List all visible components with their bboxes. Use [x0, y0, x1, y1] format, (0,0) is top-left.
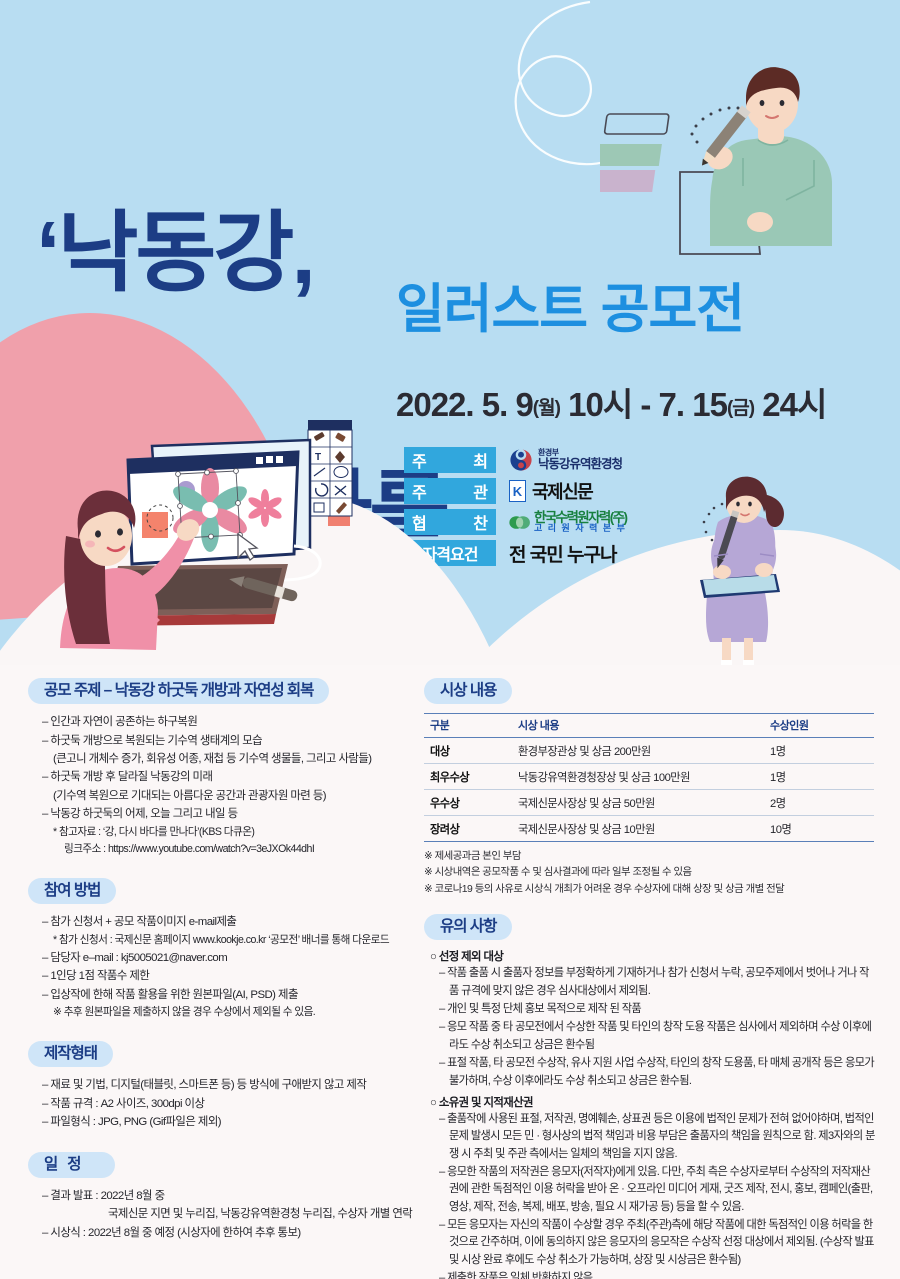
note-item: ※ 코로나19 등의 사유로 시상식 개최가 어려운 경우 수상자에 대해 상장…: [424, 882, 876, 898]
table-row: 우수상 국제신문사장상 및 상금 50만원 2명: [424, 790, 874, 816]
awards-table: 구분 시상 내용 수상인원 대상 환경부장관상 및 상금 200만원 1명 최우…: [424, 713, 874, 842]
caution-heading: ○ 선정 제외 대상: [430, 948, 876, 964]
organizer-tag-sponsor-char2: 찬: [473, 510, 488, 534]
section-schedule: 일정 – 결과 발표 : 2022년 8월 중 국제신문 지면 및 누리집, 낙…: [28, 1152, 424, 1242]
section-format: 제작형태 – 재료 및 기법, 디지털(태블릿, 스마트폰 등) 등 방식에 구…: [28, 1041, 424, 1131]
cell-prize: 환경부장관상 및 상금 200만원: [512, 738, 764, 764]
kookje-newspaper-name: 국제신문: [532, 478, 592, 504]
organizer-row-sponsor: 협 찬 한국수력원자력(주) 고 리 원 자 력 본 부: [404, 508, 734, 536]
left-column: 공모 주제 – 낙동강 하굿둑 개방과 자연성 회복 – 인간과 자연이 공존하…: [28, 678, 424, 1255]
table-row: 대상 환경부장관상 및 상금 200만원 1명: [424, 738, 874, 764]
cell-prize: 낙동강유역환경청장상 및 상금 100만원: [512, 764, 764, 790]
table-row: 최우수상 낙동강유역환경청장상 및 상금 100만원 1명: [424, 764, 874, 790]
schedule-title-char2: 정: [67, 1156, 90, 1173]
period-end-time: 24시: [762, 386, 826, 423]
cell-category: 장려상: [424, 816, 512, 842]
list-item: (큰고니 개체수 증가, 회유성 어종, 재첩 등 기수역 생물들, 그리고 사…: [42, 750, 424, 768]
section-participation: 참여 방법 – 참가 신청서 + 공모 작품이미지 e-mail제출 * 참가 …: [28, 878, 424, 1021]
section-title-schedule: 일정: [28, 1152, 115, 1178]
content-area: 공모 주제 – 낙동강 하굿둑 개방과 자연성 회복 – 인간과 자연이 공존하…: [0, 660, 900, 1279]
organizer-value-eligibility: 전 국민 누구나: [509, 540, 616, 567]
list-item: – 입상작에 한해 작품 활용을 위한 원본파일(AI, PSD) 제출: [42, 986, 424, 1004]
list-item: – 참가 신청서 + 공모 작품이미지 e-mail제출: [42, 913, 424, 931]
list-item: – 결과 발표 : 2022년 8월 중: [42, 1187, 424, 1205]
cell-prize: 국제신문사장상 및 상금 50만원: [512, 790, 764, 816]
organizer-value-organizer: K 국제신문: [509, 478, 592, 504]
tool-palette: T: [308, 420, 352, 516]
list-item: – 하굿둑 개방 후 달라질 낙동강의 미래: [42, 768, 424, 786]
caution-item: – 표절 작품, 타 공모전 수상작, 유사 지원 사업 수상작, 타인의 창작…: [430, 1055, 876, 1090]
list-item: * 참고자료 : ‘강, 다시 바다를 만나다’(KBS 다큐온): [42, 824, 424, 841]
section-title-format: 제작형태: [28, 1041, 113, 1067]
period-start-time: 10시: [568, 386, 632, 423]
section-title-participation: 참여 방법: [28, 878, 116, 904]
period-end-date: 7. 15: [659, 386, 727, 423]
caution-item: – 작품 출품 시 출품자 정보를 부정확하게 기재하거나 참가 신청서 누락,…: [430, 965, 876, 1000]
note-item: ※ 시상내역은 공모작품 수 및 심사결과에 따라 일부 조정될 수 있음: [424, 865, 876, 881]
cell-category: 최우수상: [424, 764, 512, 790]
caution-group-exclusion: ○ 선정 제외 대상 – 작품 출품 시 출품자 정보를 부정확하게 기재하거나…: [424, 948, 876, 1090]
caution-heading: ○ 소유권 및 지적재산권: [430, 1094, 876, 1110]
period-end-day: (금): [727, 398, 754, 419]
organizer-row-organizer: 주 관 K 국제신문: [404, 477, 734, 505]
column-header-prize: 시상 내용: [512, 714, 764, 738]
column-header-category: 구분: [424, 714, 512, 738]
period-dash: -: [640, 386, 650, 423]
organizer-tag-organizer-char1: 주: [412, 479, 427, 503]
period-start-date: 2022. 5. 9: [396, 386, 533, 423]
list-item: – 인간과 자연이 공존하는 하구복원: [42, 713, 424, 731]
cell-category: 우수상: [424, 790, 512, 816]
caution-item: – 응모한 작품의 저작권은 응모자(저작자)에게 있음. 다만, 주최 측은 …: [430, 1164, 876, 1216]
section-title-cautions: 유의 사항: [424, 914, 512, 940]
organizer-tag-organizer-char2: 관: [473, 479, 488, 503]
organizer-value-sponsor: 한국수력원자력(주) 고 리 원 자 력 본 부: [509, 511, 626, 534]
cell-prize: 국제신문사장상 및 상금 10만원: [512, 816, 764, 842]
table-row: 장려상 국제신문사장상 및 상금 10만원 10명: [424, 816, 874, 842]
headline-line-1: ‘낙동강,: [36, 210, 447, 296]
cell-category: 대상: [424, 738, 512, 764]
section-cautions: 유의 사항 ○ 선정 제외 대상 – 작품 출품 시 출품자 정보를 부정확하게…: [424, 914, 876, 1279]
section-awards: 시상 내용 구분 시상 내용 수상인원 대상 환경부장관상 및 상금 200만원: [424, 678, 876, 898]
ministry-logo-text: 환경부 낙동강유역환경청: [538, 449, 622, 471]
section-body-topic: – 인간과 자연이 공존하는 하구복원 – 하굿둑 개방으로 복원되는 기수역 …: [28, 713, 424, 858]
eligibility-text: 전 국민 누구나: [509, 540, 616, 567]
list-item: – 하굿둑 개방으로 복원되는 기수역 생태계의 모습: [42, 732, 424, 750]
caution-group-ip: ○ 소유권 및 지적재산권 – 출품작에 사용된 표절, 저작권, 명예훼손, …: [424, 1094, 876, 1279]
column-header-count: 수상인원: [764, 714, 874, 738]
organizer-tag-host: 주 최: [404, 447, 496, 473]
reference-link[interactable]: 링크주소 : https://www.youtube.com/watch?v=3…: [42, 841, 424, 858]
caution-item: – 제출한 작품은 일체 반환하지 않음.: [430, 1270, 876, 1279]
list-item: – 낙동강 하굿둑의 어제, 오늘 그리고 내일 등: [42, 805, 424, 823]
section-title-topic: 공모 주제 – 낙동강 하굿둑 개방과 자연성 회복: [28, 678, 329, 704]
list-item: (기수역 복원으로 기대되는 아름다운 공간과 관광자원 마련 등): [42, 787, 424, 805]
organizer-tag-sponsor: 협 찬: [404, 509, 496, 535]
cell-count: 1명: [764, 764, 874, 790]
cell-count: 1명: [764, 738, 874, 764]
list-item: ※ 추후 원본파일을 제출하지 않을 경우 수상에서 제외될 수 있음.: [42, 1004, 424, 1021]
period-start-day: (월): [533, 398, 560, 419]
caution-item: – 응모 작품 중 타 공모전에서 수상한 작품 및 타인의 창작 도용 작품은…: [430, 1019, 876, 1054]
organizer-value-host: 환경부 낙동강유역환경청: [509, 448, 622, 472]
organizer-tag-sponsor-char1: 협: [412, 510, 427, 534]
organizer-tag-host-char1: 주: [412, 448, 427, 472]
poster-root: ‘낙동강, 다시 바다를 만나다’ 일러스트 공모전 2022. 5. 9(월)…: [0, 0, 900, 1279]
schedule-title-char1: 일: [44, 1156, 67, 1173]
ministry-of-environment-logo-icon: [509, 448, 533, 472]
caution-item: – 출품작에 사용된 표절, 저작권, 명예훼손, 상표권 등은 이용에 법적인…: [430, 1111, 876, 1163]
list-item: – 파일형식 : JPG, PNG (Gif파일은 제외): [42, 1113, 424, 1131]
awards-notes: ※ 제세공과금 본인 부담 ※ 시상내역은 공모작품 수 및 심사결과에 따라 …: [424, 849, 876, 898]
section-body-schedule: – 결과 발표 : 2022년 8월 중 국제신문 지면 및 누리집, 낙동강유…: [28, 1187, 424, 1242]
event-period: 2022. 5. 9(월) 10시 - 7. 15(금) 24시: [396, 378, 826, 426]
cell-count: 10명: [764, 816, 874, 842]
section-body-format: – 재료 및 기법, 디지털(태블릿, 스마트폰 등) 등 방식에 구애받지 않…: [28, 1076, 424, 1131]
list-item: – 작품 규격 : A2 사이즈, 300dpi 이상: [42, 1095, 424, 1113]
illustration-woman-designer: T: [60, 418, 390, 658]
kookje-k-logo-icon: K: [509, 480, 526, 502]
organizer-tag-organizer: 주 관: [404, 478, 496, 504]
illustration-woman-tablet: [700, 470, 870, 665]
list-item: – 담당자 e–mail : kj5005021@naver.com: [42, 949, 424, 967]
list-item: – 1인당 1점 작품수 제한: [42, 967, 424, 985]
khnp-logo-icon: [509, 515, 531, 530]
illustration-man-drawing: [600, 58, 890, 328]
top-sky-background: ‘낙동강, 다시 바다를 만나다’ 일러스트 공모전 2022. 5. 9(월)…: [0, 0, 900, 665]
cell-count: 2명: [764, 790, 874, 816]
right-column: 시상 내용 구분 시상 내용 수상인원 대상 환경부장관상 및 상금 200만원: [424, 678, 876, 1279]
organizer-tag-host-char2: 최: [473, 448, 488, 472]
caution-item: – 모든 응모자는 자신의 작품이 수상할 경우 주최(주관)측에 해당 작품에…: [430, 1217, 876, 1269]
list-item: – 시상식 : 2022년 8월 중 예정 (시상자에 한하여 추후 통보): [42, 1224, 424, 1242]
section-topic: 공모 주제 – 낙동강 하굿둑 개방과 자연성 회복 – 인간과 자연이 공존하…: [28, 678, 424, 858]
section-title-awards: 시상 내용: [424, 678, 512, 704]
khnp-logo-text: 한국수력원자력(주) 고 리 원 자 력 본 부: [534, 511, 626, 534]
list-item: – 재료 및 기법, 디지털(태블릿, 스마트폰 등) 등 방식에 구애받지 않…: [42, 1076, 424, 1094]
khnp-division-name: 고 리 원 자 력 본 부: [534, 524, 626, 533]
section-body-participation: – 참가 신청서 + 공모 작품이미지 e-mail제출 * 참가 신청서 : …: [28, 913, 424, 1021]
ministry-office-name: 낙동강유역환경청: [538, 458, 622, 471]
list-item: * 참가 신청서 : 국제신문 홈페이지 www.kookje.co.kr ‘공…: [42, 932, 424, 949]
note-item: ※ 제세공과금 본인 부담: [424, 849, 876, 865]
caution-item: – 개인 및 특정 단체 홍보 목적으로 제작 된 작품: [430, 1001, 876, 1018]
organizer-row-host: 주 최 환경부 낙동강유역환경청: [404, 446, 734, 474]
list-item: 국제신문 지면 및 누리집, 낙동강유역환경청 누리집, 수상자 개별 연락: [42, 1205, 424, 1223]
svg-text:T: T: [315, 452, 321, 463]
table-header-row: 구분 시상 내용 수상인원: [424, 714, 874, 738]
